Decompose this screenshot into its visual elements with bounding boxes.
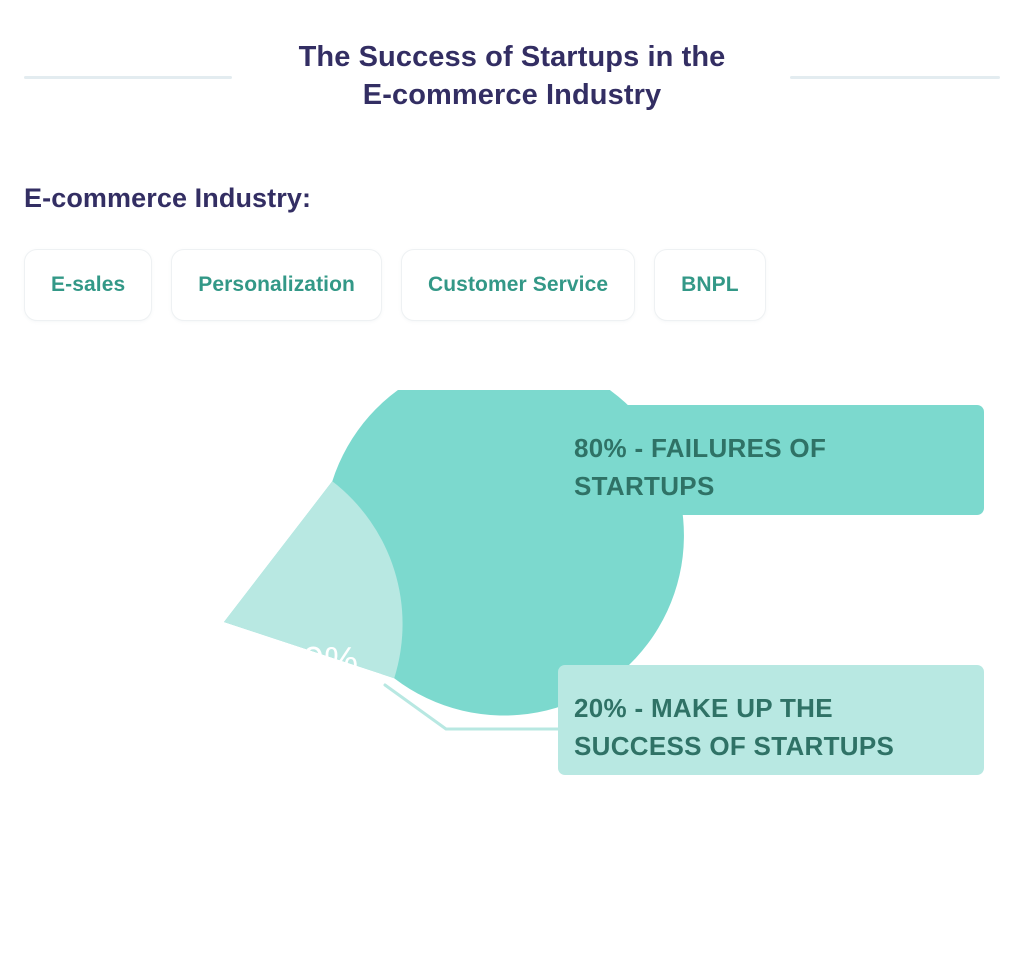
pie-chart-figure: 80% 20% 80% - FAILURES OF STARTUPS 20% -… (0, 390, 1024, 840)
tag-pill-label: Customer Service (428, 273, 608, 297)
callout-success-text: 20% - MAKE UP THE SUCCESS OF STARTUPS (574, 689, 962, 765)
callout-failures-text: 80% - FAILURES OF STARTUPS (574, 429, 962, 505)
header: The Success of Startups in the E-commerc… (0, 0, 1024, 130)
tag-pill-customer-service[interactable]: Customer Service (401, 249, 635, 321)
title-rule-right (790, 76, 1000, 79)
tag-pill-label: Personalization (198, 273, 355, 297)
callout-success: 20% - MAKE UP THE SUCCESS OF STARTUPS (558, 665, 984, 775)
tag-pill-bnpl[interactable]: BNPL (654, 249, 766, 321)
tag-list: E-sales Personalization Customer Service… (24, 249, 766, 321)
tag-pill-label: BNPL (681, 273, 739, 297)
tag-pill-personalization[interactable]: Personalization (171, 249, 382, 321)
callout-failures: 80% - FAILURES OF STARTUPS (558, 405, 984, 515)
tag-pill-e-sales[interactable]: E-sales (24, 249, 152, 321)
section-heading: E-commerce Industry: (24, 183, 311, 214)
tag-pill-label: E-sales (51, 273, 125, 297)
title-rule-left (24, 76, 232, 79)
